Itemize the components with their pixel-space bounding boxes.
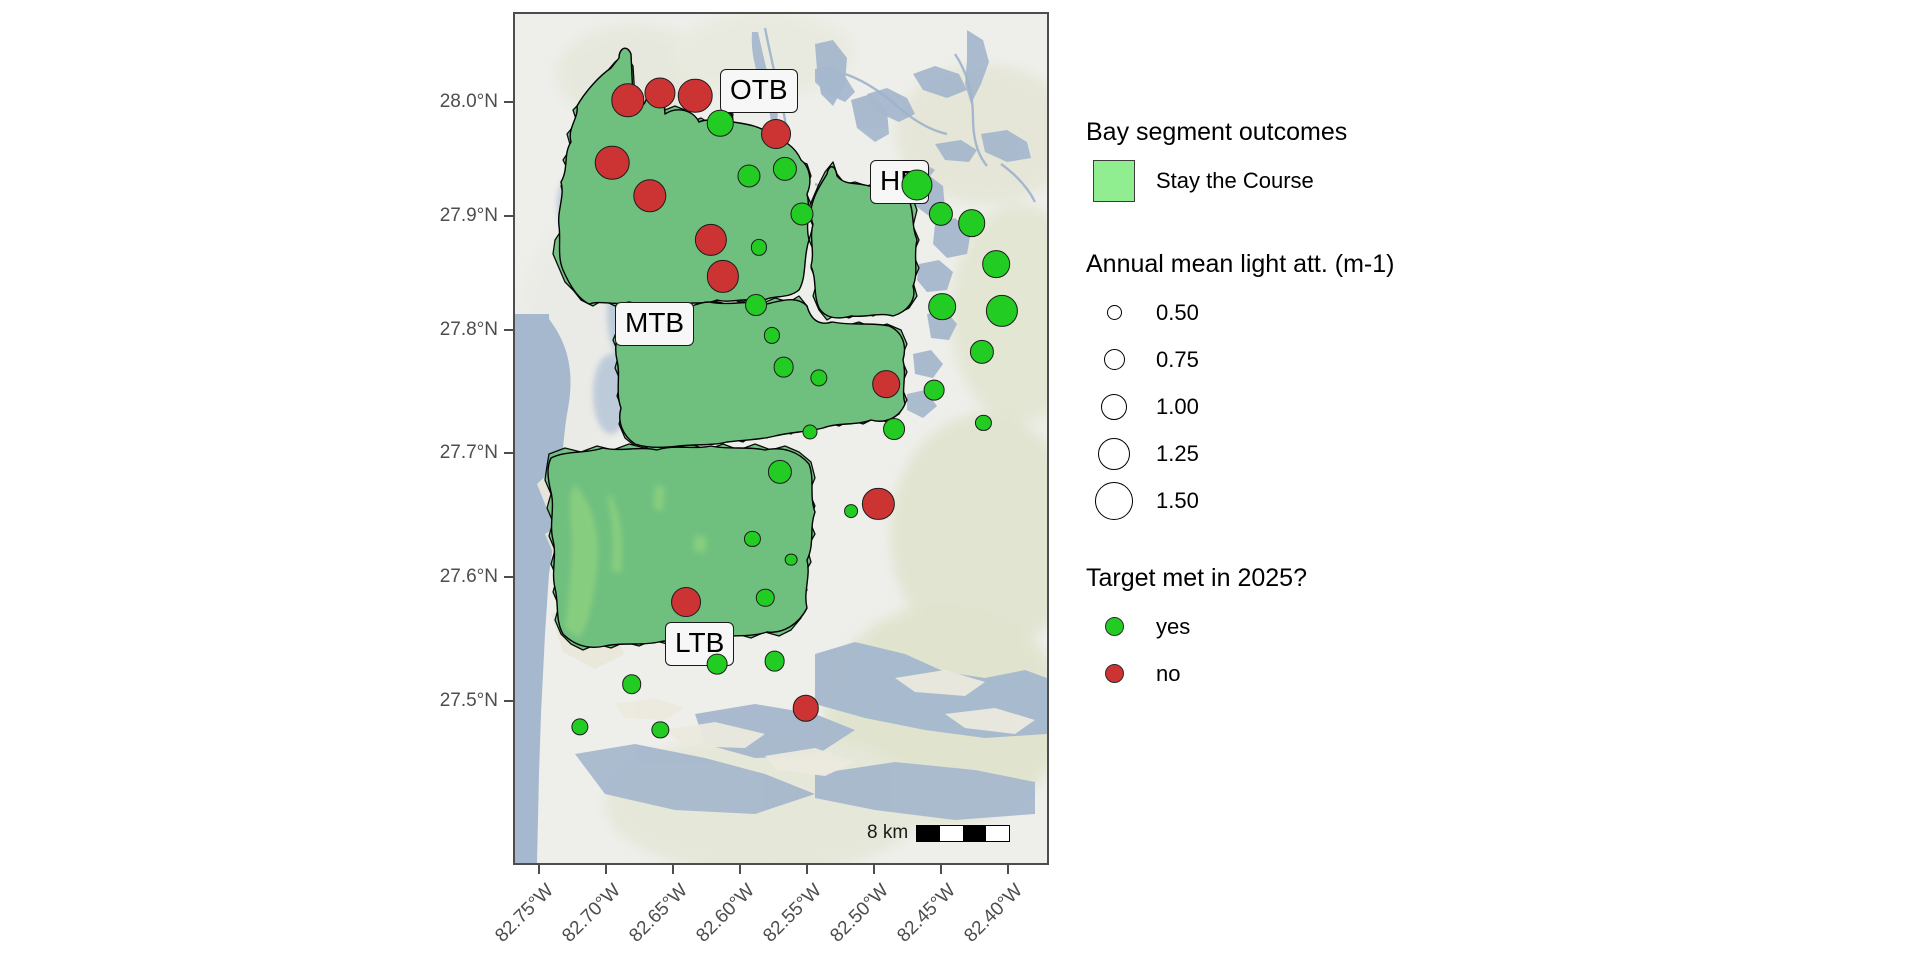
scale-seg-4	[986, 826, 1009, 841]
legend-title-target: Target met in 2025?	[1086, 564, 1546, 593]
legend-label-stay-the-course: Stay the Course	[1156, 168, 1314, 194]
legend-item-size-050[interactable]: 0.50	[1086, 289, 1546, 336]
station-point[interactable]	[924, 380, 945, 401]
y-tick-mark	[504, 215, 513, 217]
legend-title-outcomes: Bay segment outcomes	[1086, 118, 1546, 147]
station-point[interactable]	[744, 530, 760, 546]
legend-key-dot	[1086, 664, 1142, 683]
size-circle-icon	[1098, 438, 1130, 470]
legend-item-size-125[interactable]: 1.25	[1086, 430, 1546, 477]
legend-item-target-yes[interactable]: yes	[1086, 603, 1546, 650]
legend-item-size-150[interactable]: 1.50	[1086, 477, 1546, 524]
station-point[interactable]	[844, 504, 858, 518]
station-point[interactable]	[622, 674, 642, 694]
y-axis-label-2: 27.8°N	[388, 319, 498, 341]
station-point[interactable]	[595, 145, 630, 180]
legend-group-target: Target met in 2025? yes no	[1086, 564, 1546, 697]
y-tick-mark	[504, 101, 513, 103]
station-point[interactable]	[872, 370, 900, 398]
y-axis-label-4: 27.6°N	[388, 566, 498, 588]
map-panel[interactable]: OTB HB MTB LTB 8 km 28.0°N 27.9°	[513, 12, 1049, 865]
x-tick-mark	[538, 865, 540, 874]
legend-key-ring	[1086, 305, 1142, 320]
station-points-layer	[515, 14, 1047, 863]
station-point[interactable]	[745, 294, 767, 316]
station-point[interactable]	[768, 460, 792, 484]
station-point[interactable]	[707, 110, 734, 137]
x-tick-mark	[806, 865, 808, 874]
legend-label-size-125: 1.25	[1156, 441, 1199, 467]
legend-group-size: Annual mean light att. (m-1) 0.50 0.75 1…	[1086, 250, 1546, 524]
y-tick-mark	[504, 329, 513, 331]
station-point[interactable]	[983, 250, 1011, 278]
x-tick-mark	[873, 865, 875, 874]
legend-key-ring	[1086, 438, 1142, 470]
legend-key-swatch	[1086, 160, 1142, 202]
station-point[interactable]	[652, 721, 669, 738]
station-point[interactable]	[985, 295, 1017, 327]
station-point[interactable]	[810, 369, 827, 386]
station-point[interactable]	[883, 418, 905, 440]
y-axis-label-5: 27.5°N	[388, 690, 498, 712]
legend-key-ring	[1086, 394, 1142, 420]
station-point[interactable]	[785, 553, 798, 566]
legend-item-stay-the-course[interactable]: Stay the Course	[1086, 157, 1546, 204]
legend-key-ring	[1086, 349, 1142, 370]
legend-item-size-075[interactable]: 0.75	[1086, 336, 1546, 383]
station-point[interactable]	[706, 260, 738, 292]
target-yes-dot-icon	[1105, 617, 1124, 636]
station-point[interactable]	[737, 165, 760, 188]
legend-group-outcomes: Bay segment outcomes Stay the Course	[1086, 118, 1546, 204]
legend-item-target-no[interactable]: no	[1086, 650, 1546, 697]
y-axis-label-0: 28.0°N	[388, 91, 498, 113]
station-point[interactable]	[751, 239, 767, 255]
x-tick-mark	[1007, 865, 1009, 874]
legend-key-dot	[1086, 617, 1142, 636]
station-point[interactable]	[633, 179, 666, 212]
legend: Bay segment outcomes Stay the Course Ann…	[1086, 118, 1546, 743]
size-circle-icon	[1107, 305, 1122, 320]
stay-the-course-swatch-icon	[1093, 160, 1135, 202]
x-tick-mark	[672, 865, 674, 874]
station-point[interactable]	[764, 651, 785, 672]
size-circle-icon	[1101, 394, 1127, 420]
size-circle-icon	[1095, 482, 1133, 520]
station-point[interactable]	[645, 77, 676, 108]
legend-title-size: Annual mean light att. (m-1)	[1086, 250, 1546, 279]
station-point[interactable]	[792, 695, 819, 722]
scale-bar-label: 8 km	[867, 822, 908, 844]
station-point[interactable]	[707, 654, 728, 675]
y-tick-mark	[504, 700, 513, 702]
station-point[interactable]	[773, 357, 794, 378]
scale-bar: 8 km	[867, 822, 1010, 844]
station-point[interactable]	[958, 209, 986, 237]
legend-label-size-150: 1.50	[1156, 488, 1199, 514]
station-point[interactable]	[802, 425, 817, 440]
legend-label-target-yes: yes	[1156, 614, 1190, 640]
station-point[interactable]	[764, 327, 780, 343]
station-point[interactable]	[862, 488, 894, 520]
station-point[interactable]	[773, 157, 797, 181]
scale-bar-ticks	[916, 825, 1010, 842]
station-point[interactable]	[678, 79, 713, 114]
size-circle-icon	[1104, 349, 1125, 370]
station-point[interactable]	[756, 588, 774, 606]
target-no-dot-icon	[1105, 664, 1124, 683]
legend-label-target-no: no	[1156, 661, 1180, 687]
y-axis-label-1: 27.9°N	[388, 205, 498, 227]
legend-label-size-100: 1.00	[1156, 394, 1199, 420]
station-point[interactable]	[695, 224, 727, 256]
y-tick-mark	[504, 452, 513, 454]
y-tick-mark	[504, 576, 513, 578]
scale-seg-2	[940, 826, 963, 841]
station-point[interactable]	[902, 170, 933, 201]
station-point[interactable]	[761, 119, 791, 149]
legend-key-ring	[1086, 482, 1142, 520]
legend-item-size-100[interactable]: 1.00	[1086, 383, 1546, 430]
y-axis-label-3: 27.7°N	[388, 442, 498, 464]
station-point[interactable]	[970, 340, 994, 364]
station-point[interactable]	[975, 415, 991, 431]
x-tick-mark	[940, 865, 942, 874]
station-point[interactable]	[790, 203, 813, 226]
map-page: OTB HB MTB LTB 8 km 28.0°N 27.9°	[0, 0, 1920, 960]
map-frame[interactable]: OTB HB MTB LTB 8 km	[513, 12, 1049, 865]
station-point[interactable]	[928, 293, 956, 321]
station-point[interactable]	[671, 587, 701, 617]
station-point[interactable]	[611, 84, 644, 117]
station-point[interactable]	[929, 202, 953, 226]
x-tick-mark	[605, 865, 607, 874]
scale-seg-1	[917, 826, 940, 841]
x-tick-mark	[739, 865, 741, 874]
station-point[interactable]	[571, 718, 588, 735]
legend-label-size-075: 0.75	[1156, 347, 1199, 373]
legend-label-size-050: 0.50	[1156, 300, 1199, 326]
scale-seg-3	[963, 826, 986, 841]
